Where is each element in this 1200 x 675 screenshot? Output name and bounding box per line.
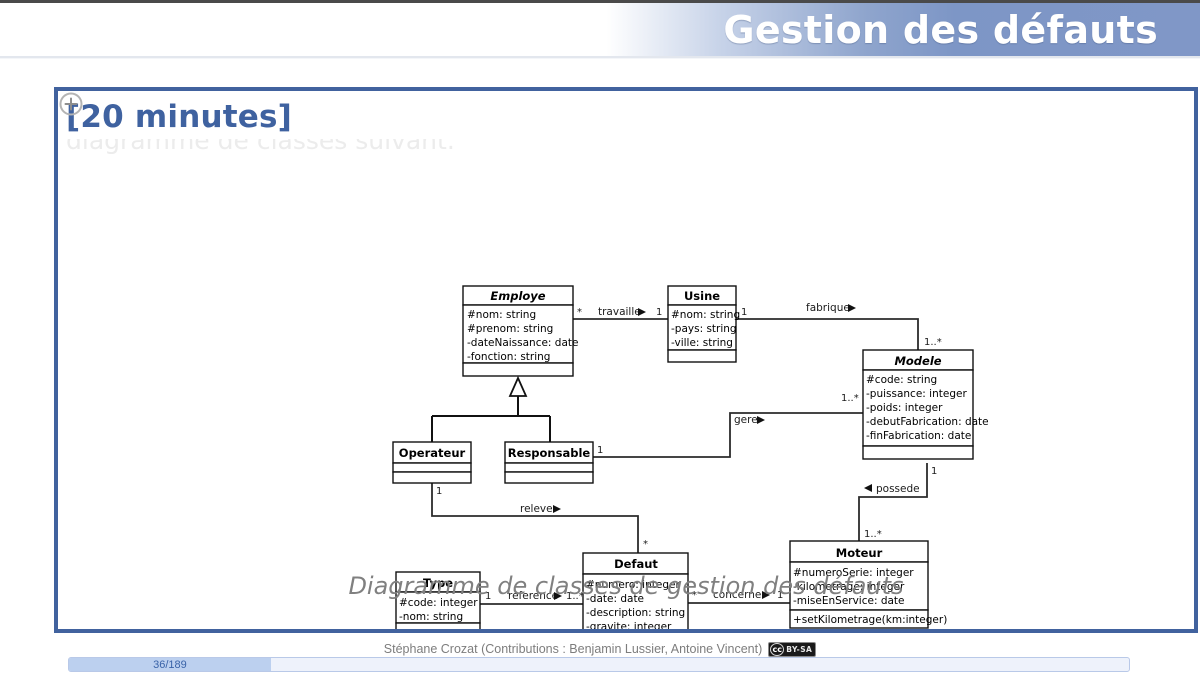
svg-text:1: 1	[656, 307, 662, 318]
generalization-lines	[432, 396, 550, 442]
svg-text:Usine: Usine	[684, 289, 720, 303]
svg-text:possede: possede	[876, 483, 920, 495]
assoc-line-gere	[593, 413, 863, 457]
svg-text:#nom: string: #nom: string	[467, 309, 536, 321]
slide-progress-fill: 36/189	[69, 658, 271, 671]
svg-text:-pays: string: -pays: string	[671, 323, 737, 335]
diagram-caption: Diagramme de classes de gestion des défa…	[58, 572, 1194, 600]
svg-text:*: *	[643, 539, 648, 550]
svg-text:1: 1	[436, 486, 442, 497]
slide-header: Gestion des défauts	[0, 3, 1200, 56]
svg-text:-dateNaissance: date: -dateNaissance: date	[467, 337, 579, 349]
svg-text:Modele: Modele	[894, 354, 941, 368]
svg-text:1: 1	[597, 445, 603, 456]
svg-text:releve: releve	[520, 503, 553, 515]
class-box-responsable: Responsable	[505, 442, 593, 483]
uml-class-diagram: Employe #nom: string #prenom: string -da…	[58, 91, 1194, 629]
svg-text:1..*: 1..*	[924, 337, 942, 348]
svg-text:-finFabrication: date: -finFabrication: date	[866, 430, 971, 442]
svg-text:-puissance: integer: -puissance: integer	[866, 388, 967, 400]
svg-text:fabrique: fabrique	[806, 302, 850, 314]
slide-progress-bar[interactable]: 36/189	[68, 657, 1130, 672]
assoc-line-releve	[432, 483, 638, 553]
svg-text:1..*: 1..*	[864, 529, 882, 540]
svg-text:-description: string: -description: string	[586, 607, 685, 619]
svg-text:#nom: string: #nom: string	[671, 309, 740, 321]
class-box-operateur: Operateur	[393, 442, 471, 483]
svg-text:#prenom: string: #prenom: string	[467, 323, 553, 335]
svg-text:travaille: travaille	[598, 306, 641, 318]
creative-commons-badge[interactable]: cc BY-SA	[768, 642, 816, 657]
svg-text:-ville: string: -ville: string	[671, 337, 733, 349]
svg-text:-gravite: integer: -gravite: integer	[586, 621, 672, 629]
uml-diagram-canvas: Employe #nom: string #prenom: string -da…	[58, 91, 1194, 629]
svg-text:Responsable: Responsable	[508, 446, 591, 460]
footer-credits: Stéphane Crozat (Contributions : Benjami…	[384, 642, 762, 656]
assoc-line-fabrique	[736, 319, 918, 350]
svg-text:Employe: Employe	[490, 289, 545, 303]
svg-text:-debutFabrication: date: -debutFabrication: date	[866, 416, 989, 428]
class-box-employe: Employe #nom: string #prenom: string -da…	[463, 286, 579, 376]
header-divider-soft	[0, 58, 1200, 59]
slide-content-frame: [20 minutes] diagramme de classes suivan…	[54, 87, 1198, 633]
slide-footer: Stéphane Crozat (Contributions : Benjami…	[0, 640, 1200, 658]
svg-text:Operateur: Operateur	[399, 446, 466, 460]
generalization-arrowhead	[510, 378, 526, 396]
header-title: Gestion des défauts	[600, 6, 1180, 53]
svg-text:1..*: 1..*	[841, 393, 859, 404]
svg-text:1: 1	[741, 307, 747, 318]
svg-text:Defaut: Defaut	[614, 557, 658, 571]
svg-text:-fonction: string: -fonction: string	[467, 351, 550, 363]
svg-text:-poids: integer: -poids: integer	[866, 402, 943, 414]
cc-logo-icon: cc	[770, 643, 784, 656]
svg-text:Moteur: Moteur	[836, 546, 883, 560]
class-box-modele: Modele #code: string -puissance: integer…	[863, 350, 989, 459]
cc-license-text: BY-SA	[786, 645, 814, 654]
svg-text:+setKilometrage(km:integer): +setKilometrage(km:integer)	[793, 614, 947, 626]
plus-circle-icon[interactable]	[58, 91, 84, 117]
class-box-usine: Usine #nom: string -pays: string -ville:…	[668, 286, 740, 362]
svg-text:-nom: string: -nom: string	[399, 611, 463, 623]
svg-text:*: *	[577, 307, 582, 318]
svg-text:gere: gere	[734, 414, 758, 426]
svg-text:1: 1	[931, 466, 937, 477]
slide-progress-label: 36/189	[153, 659, 187, 671]
svg-text:#code: string: #code: string	[866, 374, 937, 386]
